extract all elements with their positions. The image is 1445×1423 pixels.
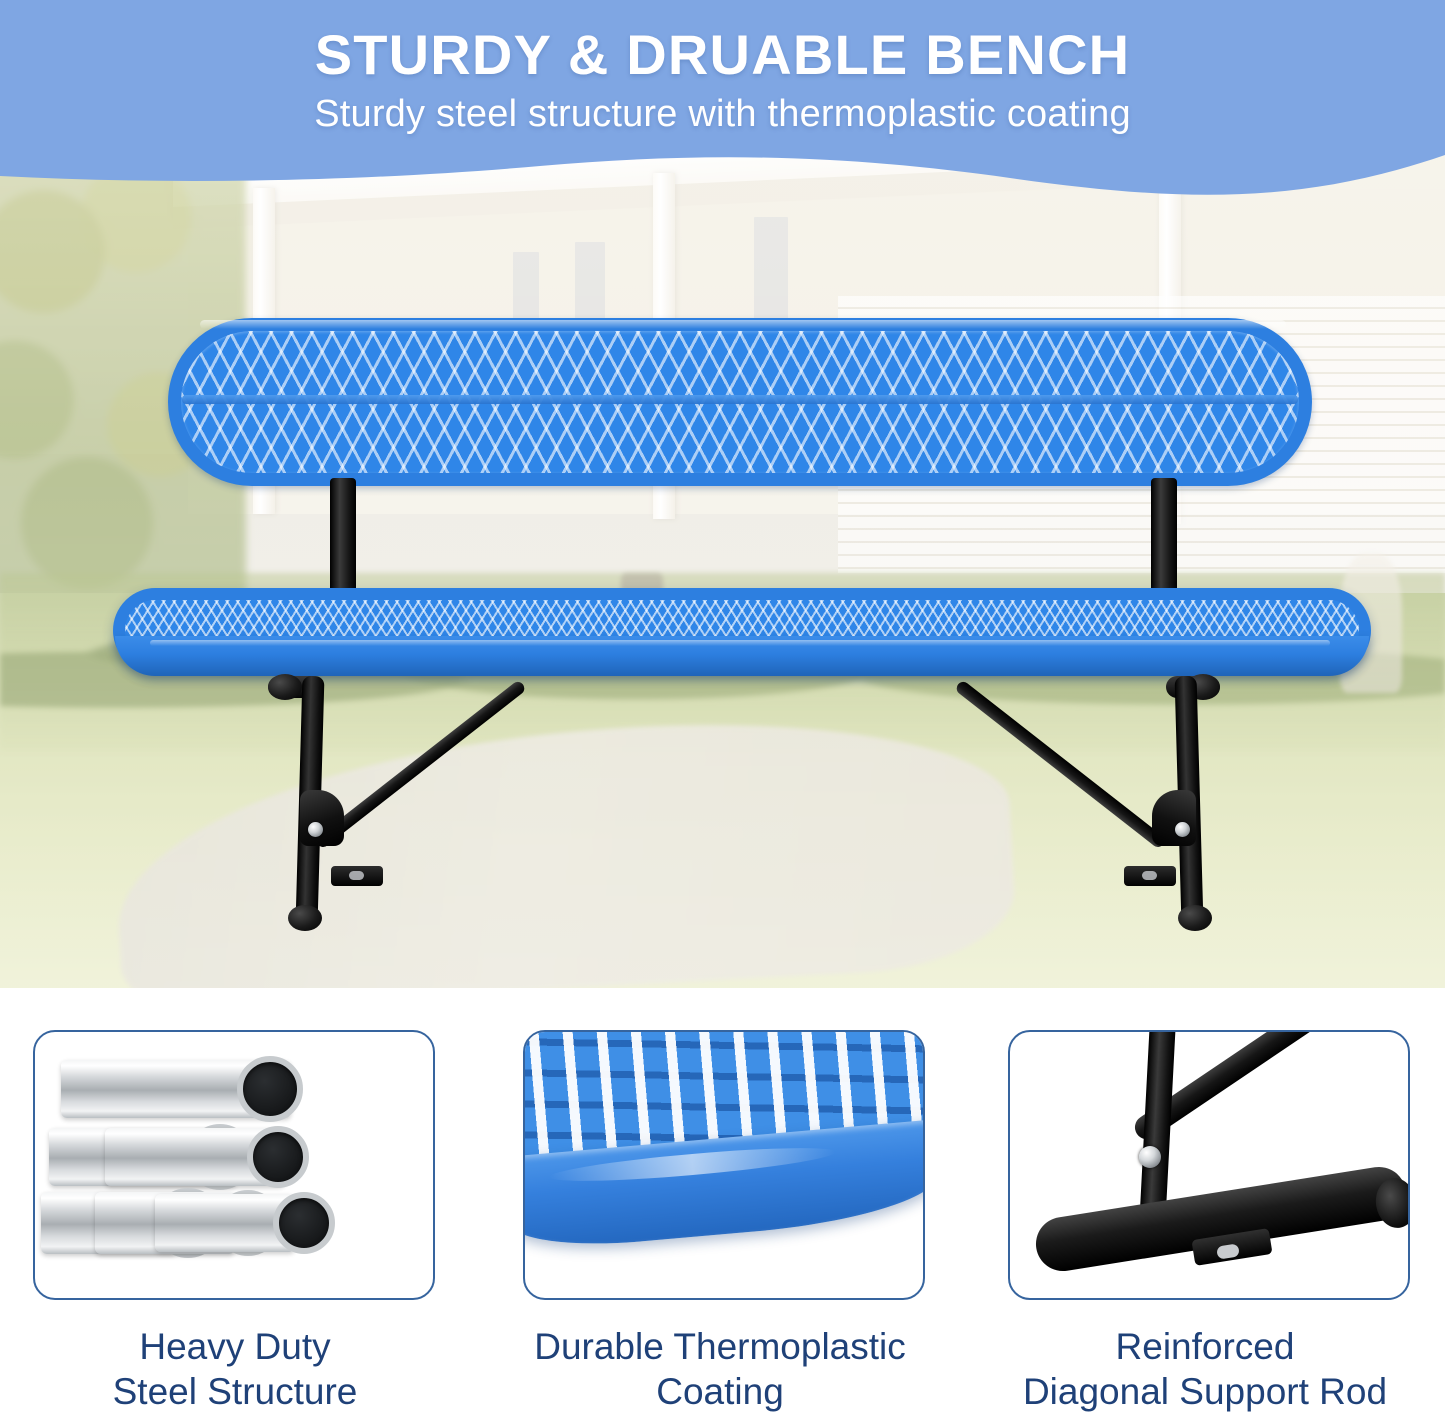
hex-bolt-icon bbox=[1175, 822, 1190, 837]
feature-caption-heavy-duty-steel: Heavy Duty Steel Structure bbox=[0, 1324, 470, 1414]
hex-bolt-icon bbox=[308, 822, 323, 837]
feature-panel-thermoplastic-coating bbox=[523, 1030, 925, 1300]
caption-line: Diagonal Support Rod bbox=[970, 1369, 1440, 1414]
leg-gusset bbox=[300, 790, 344, 846]
backrest-highlight bbox=[200, 320, 1286, 329]
foot-plate-hole bbox=[349, 871, 364, 880]
seat-edge-highlight bbox=[150, 640, 1330, 646]
feature-panel-heavy-duty-steel bbox=[33, 1030, 435, 1300]
leg-end-cap bbox=[1178, 905, 1212, 931]
caption-line: Heavy Duty bbox=[0, 1324, 470, 1369]
caption-line: Steel Structure bbox=[0, 1369, 470, 1414]
leg-gusset bbox=[1152, 790, 1196, 846]
diagonal-support-rod bbox=[954, 679, 1167, 849]
feature-panels-row: Heavy Duty Steel Structure Durable Therm… bbox=[0, 988, 1445, 1423]
steel-pipe-opening bbox=[237, 1056, 303, 1122]
caption-line: Durable Thermoplastic bbox=[485, 1324, 955, 1369]
leg-end-cap bbox=[288, 905, 322, 931]
feature-caption-diagonal-support-rod: Reinforced Diagonal Support Rod bbox=[970, 1324, 1440, 1414]
backrest-center-rail bbox=[182, 395, 1298, 404]
product-bench bbox=[0, 0, 1445, 988]
steel-pipe-opening bbox=[247, 1126, 309, 1188]
foot-plate-hole bbox=[1142, 871, 1157, 880]
back-support-post bbox=[1151, 478, 1177, 596]
leg-end-cap bbox=[268, 674, 302, 700]
diagonal-support-rod bbox=[314, 679, 527, 849]
caption-line: Reinforced bbox=[970, 1324, 1440, 1369]
hero-product-image bbox=[0, 0, 1445, 988]
back-support-post bbox=[330, 478, 356, 600]
feature-panel-diagonal-support-rod bbox=[1008, 1030, 1410, 1300]
feature-caption-thermoplastic-coating: Durable Thermoplastic Coating bbox=[485, 1324, 955, 1414]
steel-pipe-opening bbox=[273, 1192, 335, 1254]
caption-line: Coating bbox=[485, 1369, 955, 1414]
